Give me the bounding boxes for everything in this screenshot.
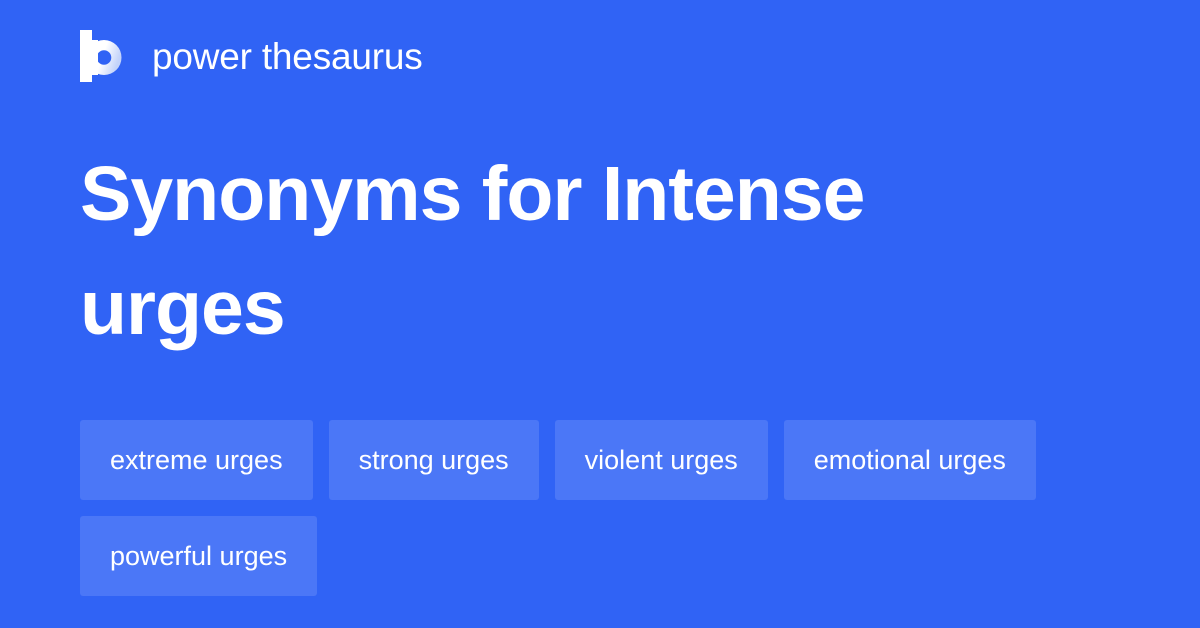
synonym-chip[interactable]: extreme urges (80, 420, 313, 500)
brand-wordmark: power thesaurus (152, 38, 423, 75)
synonym-chip[interactable]: strong urges (329, 420, 539, 500)
power-thesaurus-b-logo-icon (80, 30, 130, 82)
synonym-chip[interactable]: powerful urges (80, 516, 317, 596)
synonym-chip-list: extreme urges strong urges violent urges… (80, 420, 1100, 596)
brand-header[interactable]: power thesaurus (80, 28, 423, 84)
synonym-chip[interactable]: emotional urges (784, 420, 1036, 500)
page-title: Synonyms for Intense urges (80, 138, 1080, 366)
og-share-card: power thesaurus Synonyms for Intense urg… (0, 0, 1200, 628)
synonym-chip[interactable]: violent urges (555, 420, 768, 500)
